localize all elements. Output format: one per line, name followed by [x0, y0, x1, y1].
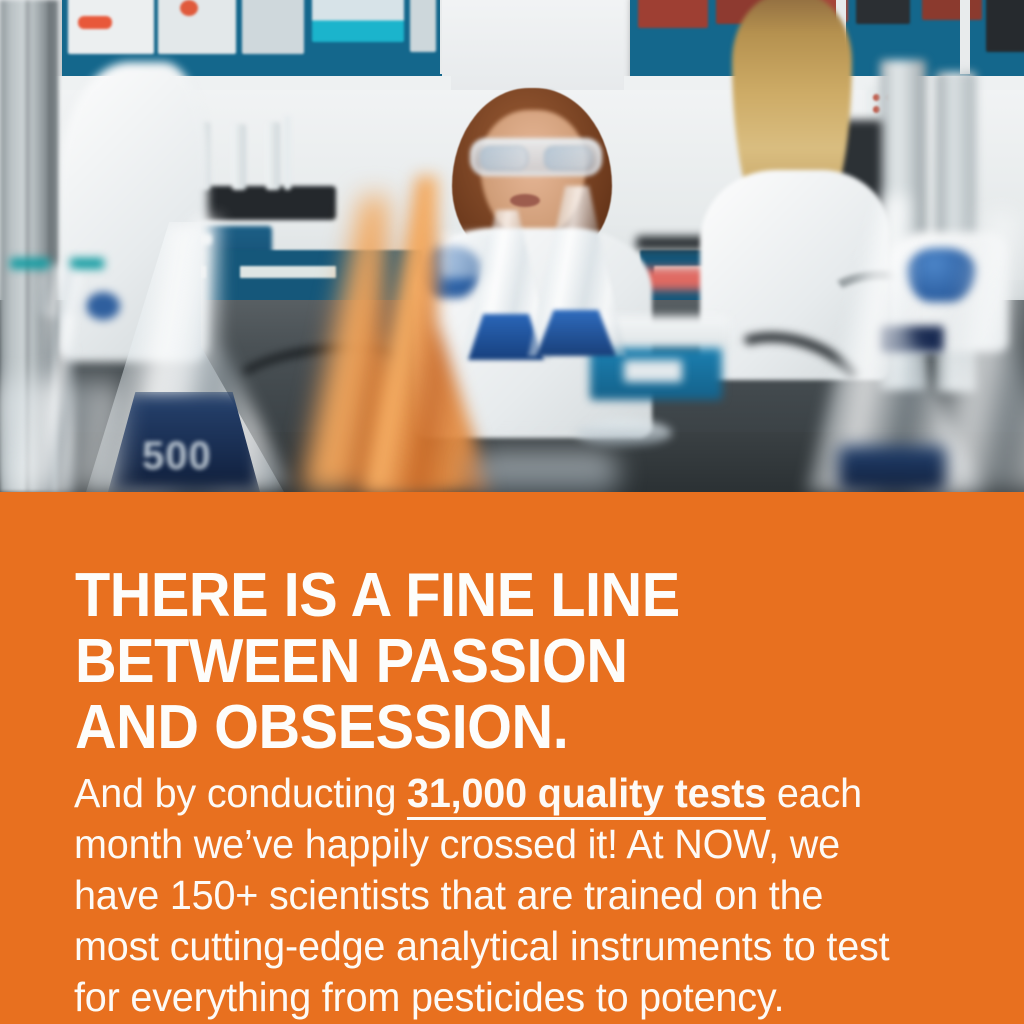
foreground-glass-bottom-left: [0, 380, 120, 492]
burette-3: [232, 124, 246, 190]
balance-display: [624, 360, 682, 382]
body-copy: And by conducting 31,000 quality tests e…: [74, 768, 914, 1023]
erlenmeyer-flask-center-2: [528, 186, 624, 356]
safety-goggles-icon: [470, 138, 602, 176]
foreground-glass-bottom-center: [470, 452, 620, 492]
laboratory-photo: 500: [0, 0, 1024, 492]
cabinet-gap: [442, 0, 630, 90]
body-before: And by conducting: [74, 770, 407, 816]
stat-emphasis: 31,000 quality tests: [407, 770, 766, 820]
social-graphic-canvas: 500 THERE IS A: [0, 0, 1024, 1024]
outlet-dot-1: [873, 94, 880, 101]
petri-dish: [576, 420, 672, 446]
page-title: THERE IS A FINE LINE BETWEEN PASSION AND…: [75, 563, 893, 761]
outlet-dot-3: [873, 106, 880, 113]
navy-liquid-right: [838, 446, 946, 492]
burette-5: [284, 116, 291, 190]
flask-volume-label: 500: [142, 434, 212, 479]
burette-4: [266, 122, 280, 190]
